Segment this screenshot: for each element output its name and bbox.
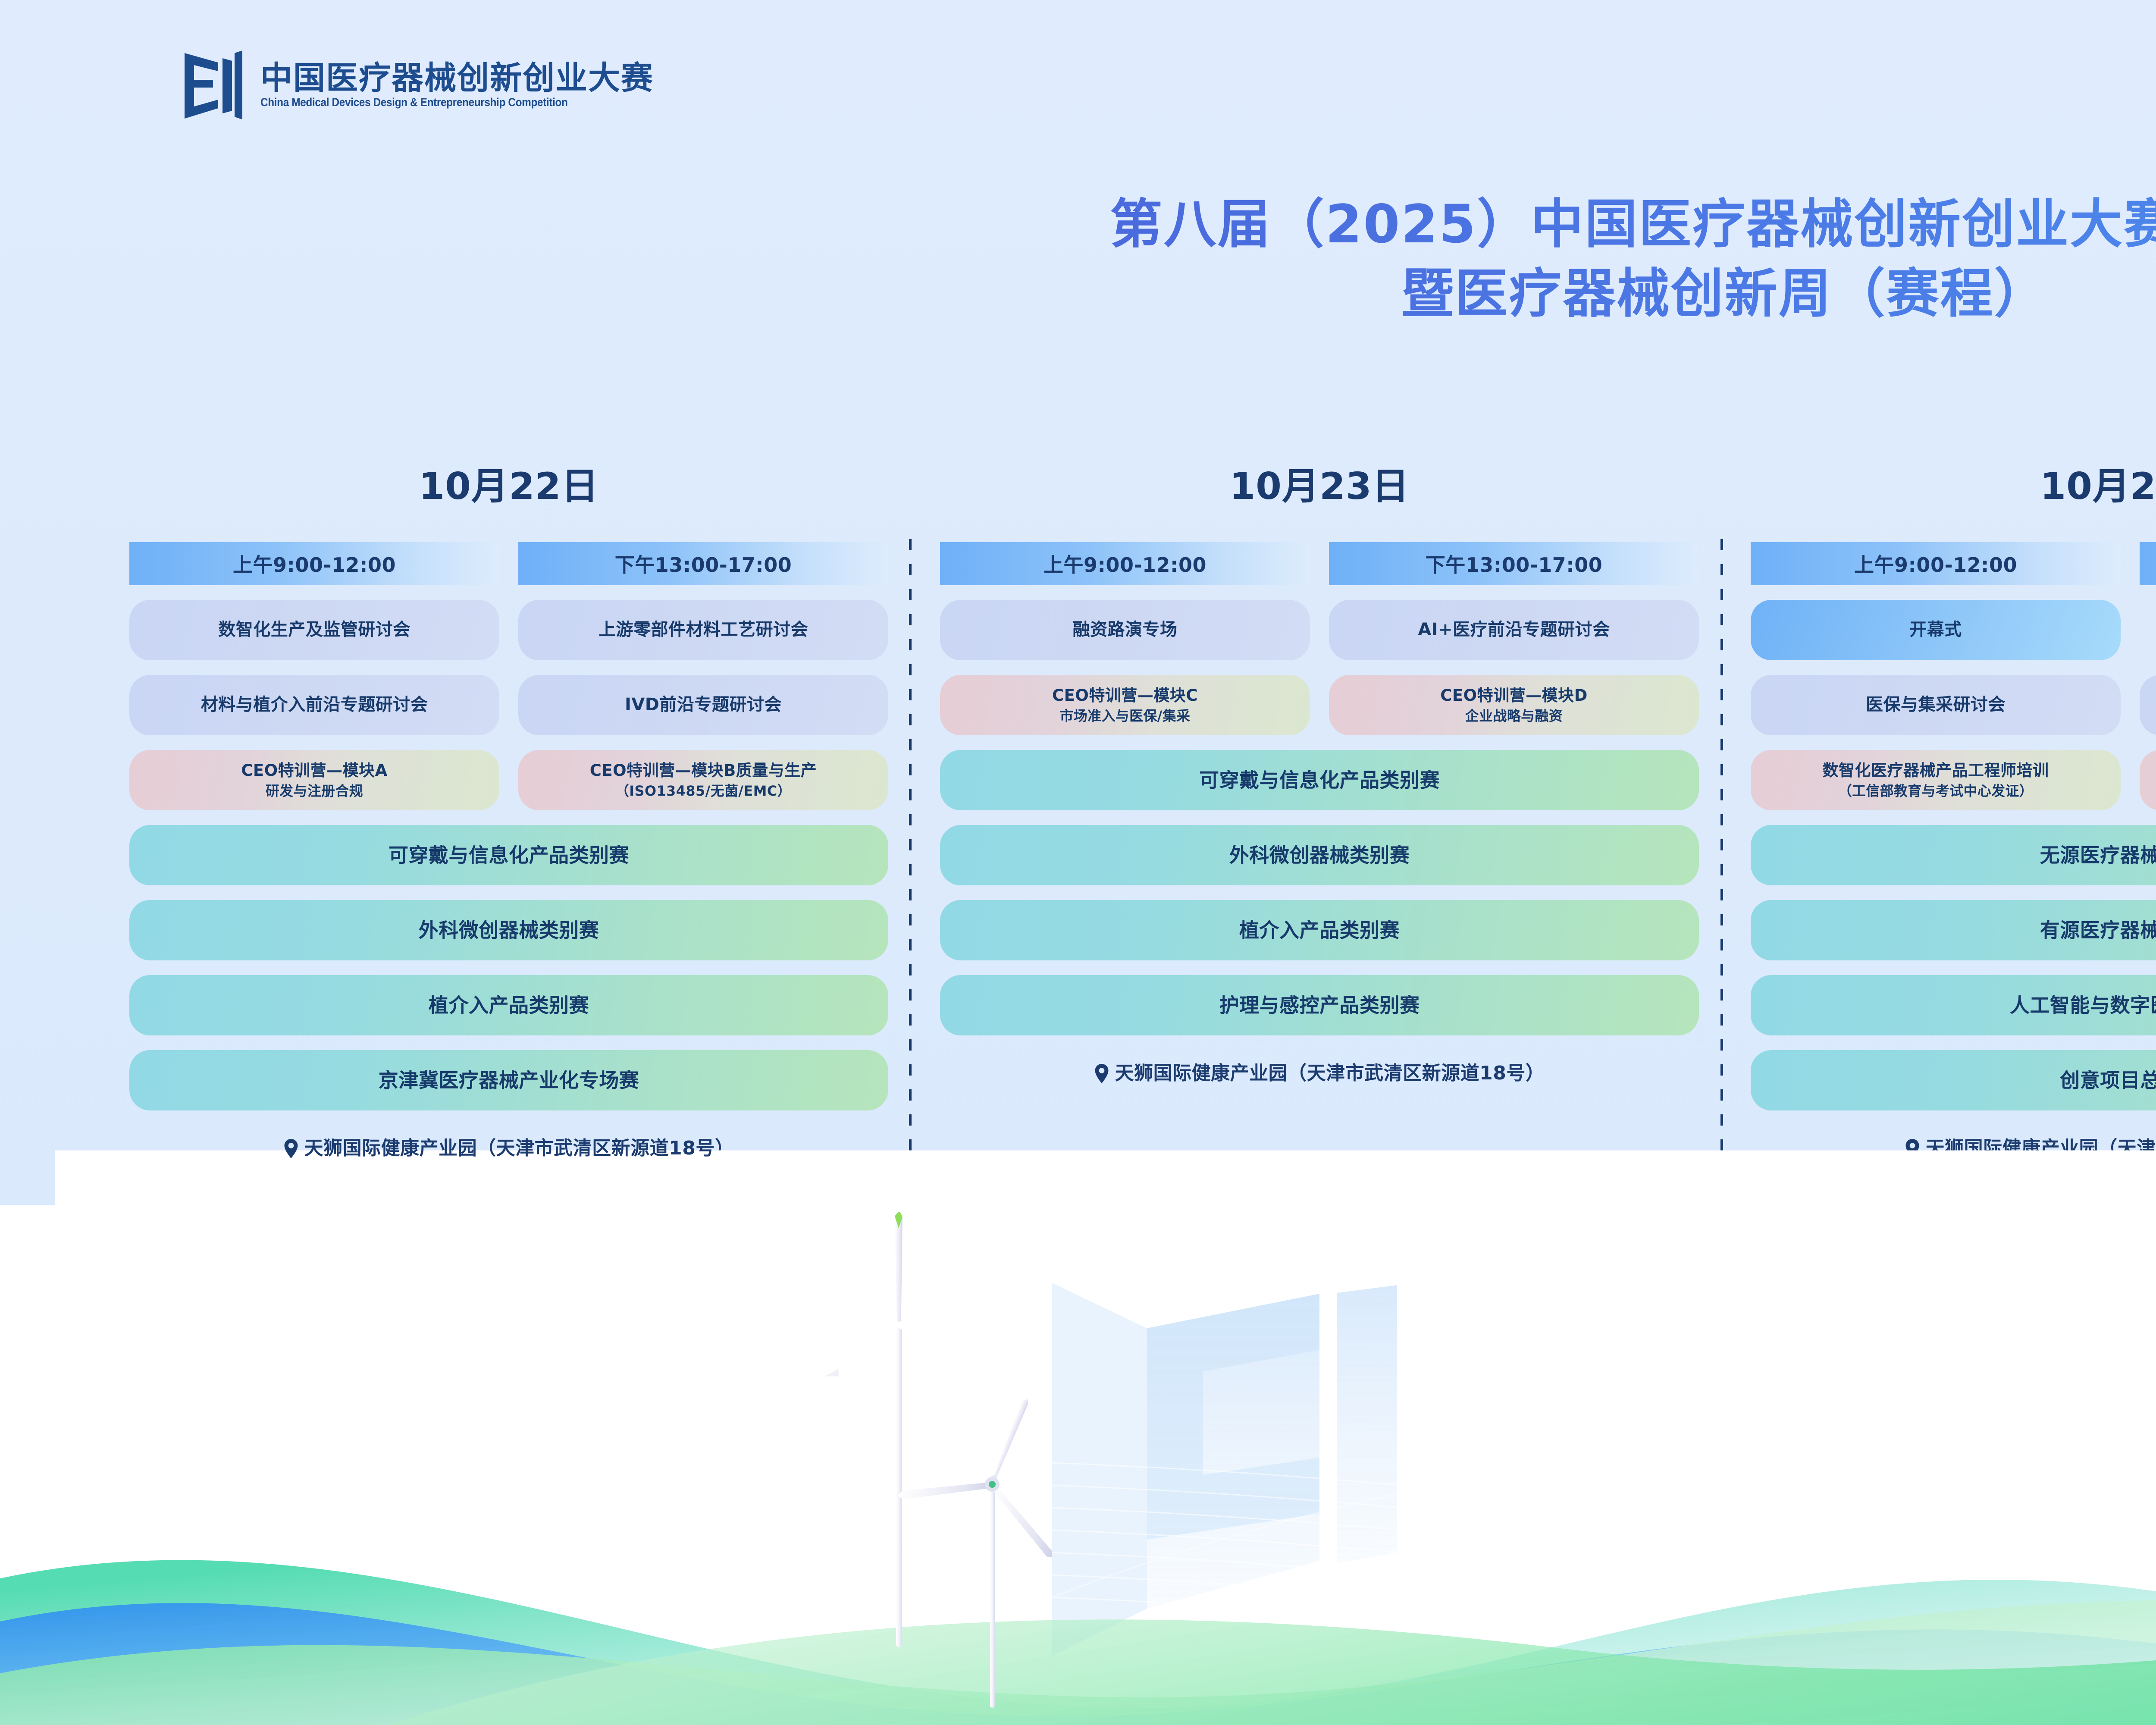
venue-text: 天狮国际健康产业园（天津市武清区新源道18号） — [304, 1135, 734, 1161]
schedule-card[interactable]: 数智化医疗器械人因工程设计工程师培训（工信部教育与考试中心发证） — [2140, 750, 2156, 810]
location-pin-icon — [1094, 1064, 1109, 1083]
afternoon-time-pill: 下午13:00-17:00 — [2140, 542, 2156, 585]
schedule-card[interactable]: 护理与感控产品类别赛 — [940, 975, 1699, 1035]
schedule-card[interactable]: 可穿戴与信息化产品类别赛 — [940, 750, 1699, 810]
card-subtitle: 市场准入与医保/集采 — [1052, 707, 1198, 725]
session-row: 开幕式 — [1751, 585, 2156, 660]
venue-line: 天狮国际健康产业园（天津市武清区新源道18号） — [1751, 1135, 2156, 1161]
card-title: 创意项目总决赛 — [2060, 1069, 2156, 1092]
venue-text: 天狮国际健康产业园（天津市武清区新源道18号） — [1115, 1060, 1545, 1086]
venue-text: 天狮国际健康产业园（天津市武清区新源道18号） — [1926, 1135, 2156, 1161]
venue-line: 天狮国际健康产业园（天津市武清区新源道18号） — [129, 1135, 888, 1161]
card-title: 护理与感控产品类别赛 — [1219, 994, 1420, 1017]
card-title: 开幕式 — [1909, 620, 1962, 640]
schedule-card[interactable]: 数智化生产及监管研讨会 — [129, 600, 499, 660]
location-pin-icon — [1905, 1139, 1920, 1158]
card-title: 材料与植介入前沿专题研讨会 — [201, 695, 428, 715]
card-title: 有源医疗器械总决赛 — [2040, 919, 2156, 942]
session-row: 融资路演专场AI+医疗前沿专题研讨会 — [940, 585, 1699, 660]
morning-time-pill: 上午9:00-12:00 — [940, 542, 1310, 585]
schedule-card[interactable]: 数智化医疗器械产品工程师培训（工信部教育与考试中心发证） — [1751, 750, 2121, 810]
day-date-heading: 10月24日 — [1751, 468, 2156, 505]
time-header-row: 上午9:00-12:00下午13:00-17:00 — [129, 542, 888, 585]
afternoon-time-pill: 下午13:00-17:00 — [1329, 542, 1699, 585]
card-title: 上游零部件材料工艺研讨会 — [599, 620, 808, 640]
afternoon-time-pill: 下午13:00-17:00 — [518, 542, 888, 585]
schedule-card[interactable]: 植介入产品类别赛 — [129, 975, 888, 1035]
schedule-card[interactable]: CEO特训营—模块C市场准入与医保/集采 — [940, 675, 1310, 735]
card-title: 人工智能与数字医疗总决赛 — [2010, 994, 2156, 1017]
schedule-card[interactable]: 融资路演专场 — [940, 600, 1310, 660]
card-title: 无源医疗器械总决赛 — [2040, 844, 2156, 867]
card-title: IVD前沿专题研讨会 — [625, 695, 782, 715]
card-subtitle: （工信部教育与考试中心发证） — [1823, 782, 2049, 800]
day-date-heading: 10月22日 — [129, 468, 888, 505]
card-title: CEO特训营—模块B质量与生产 — [590, 761, 817, 780]
schedule-card[interactable]: AI+医疗前沿专题研讨会 — [1329, 600, 1699, 660]
schedule-card[interactable]: 无源医疗器械总决赛 — [1751, 825, 2156, 885]
card-title: 可穿戴与信息化产品类别赛 — [1199, 768, 1440, 792]
schedule-card[interactable]: 材料与植介入前沿专题研讨会 — [129, 675, 499, 735]
title-line-1: 第八届（2025）中国医疗器械创新创业大赛总决赛 — [0, 190, 2156, 259]
time-header-row: 上午9:00-12:00下午13:00-17:00 — [940, 542, 1699, 585]
card-subtitle: 企业战略与融资 — [1440, 707, 1588, 725]
schedule-card[interactable]: 可穿戴与信息化产品类别赛 — [129, 825, 888, 885]
schedule-card[interactable]: CEO特训营—模块A研发与注册合规 — [129, 750, 499, 810]
card-title: 融资路演专场 — [1073, 620, 1178, 640]
logo-english-name: China Medical Devices Design & Entrepren… — [260, 97, 622, 108]
schedule-card[interactable]: 医保与集采研讨会 — [1751, 675, 2121, 735]
schedule-card[interactable]: IVD前沿专题研讨会 — [518, 675, 888, 735]
location-pin-icon — [284, 1139, 298, 1158]
day-date-heading: 10月23日 — [940, 468, 1699, 505]
card-title: 数智化生产及监管研讨会 — [218, 620, 411, 640]
schedule-card[interactable]: 外科微创器械类别赛 — [940, 825, 1699, 885]
schedule-card[interactable]: 有源医疗器械总决赛 — [1751, 900, 2156, 960]
schedule-card[interactable]: CEO特训营—模块B质量与生产（ISO13485/无菌/EMC） — [518, 750, 888, 810]
card-subtitle: （ISO13485/无菌/EMC） — [590, 782, 817, 800]
logo-chinese-name: 中国医疗器械创新创业大赛 — [260, 62, 654, 94]
schedule-card[interactable]: 上游零部件材料工艺研讨会 — [518, 600, 888, 660]
card-title: 数智化医疗器械产品工程师培训 — [1823, 761, 2049, 780]
schedule-card[interactable]: 创意项目总决赛 — [1751, 1050, 2156, 1110]
card-title: 植介入产品类别赛 — [1239, 919, 1400, 942]
session-row: 数智化生产及监管研讨会上游零部件材料工艺研讨会 — [129, 585, 888, 660]
card-title: 植介入产品类别赛 — [429, 994, 589, 1017]
card-title: AI+医疗前沿专题研讨会 — [1418, 620, 1610, 640]
day-column-3: 10月24日上午9:00-12:00下午13:00-17:00开幕式医保与集采研… — [1751, 468, 2156, 1161]
session-row: CEO特训营—模块C市场准入与医保/集采CEO特训营—模块D企业战略与融资 — [940, 660, 1699, 735]
door-mark-logo-icon — [181, 45, 246, 125]
session-row: 材料与植介入前沿专题研讨会IVD前沿专题研讨会 — [129, 660, 888, 735]
card-title: 外科微创器械类别赛 — [1229, 844, 1410, 867]
card-title: CEO特训营—模块D — [1440, 686, 1588, 705]
card-title: CEO特训营—模块A — [241, 761, 388, 780]
day-column-1: 10月22日上午9:00-12:00下午13:00-17:00数智化生产及监管研… — [129, 468, 888, 1161]
card-title: 可穿戴与信息化产品类别赛 — [389, 844, 629, 867]
schedule-card[interactable]: 外科微创器械类别赛 — [129, 900, 888, 960]
card-title: 医保与集采研讨会 — [1866, 695, 2006, 715]
time-header-row: 上午9:00-12:00下午13:00-17:00 — [1751, 542, 2156, 585]
morning-time-pill: 上午9:00-12:00 — [129, 542, 499, 585]
session-row: 数智化医疗器械产品工程师培训（工信部教育与考试中心发证）数智化医疗器械人因工程设… — [1751, 735, 2156, 810]
schedule-card[interactable]: 京津冀医疗器械产业化专场赛 — [129, 1050, 888, 1110]
card-title: CEO特训营—模块C — [1052, 686, 1198, 705]
venue-line: 天狮国际健康产业园（天津市武清区新源道18号） — [940, 1060, 1699, 1086]
card-title: 京津冀医疗器械产业化专场赛 — [379, 1069, 639, 1092]
page-title: 第八届（2025）中国医疗器械创新创业大赛总决赛 暨医疗器械创新周（赛程） — [0, 190, 2156, 329]
poster-canvas: 中国医疗器械创新创业大赛 China Medical Devices Desig… — [0, 0, 2156, 1725]
schedule-card[interactable]: 植介入产品类别赛 — [940, 900, 1699, 960]
session-row: 医保与集采研讨会临床转化研讨会 — [1751, 660, 2156, 735]
morning-time-pill: 上午9:00-12:00 — [1751, 542, 2121, 585]
schedule-card[interactable]: 临床转化研讨会 — [2140, 675, 2156, 735]
schedule-card[interactable]: 开幕式 — [1751, 600, 2121, 660]
schedule-card[interactable]: 人工智能与数字医疗总决赛 — [1751, 975, 2156, 1035]
card-title: 外科微创器械类别赛 — [419, 919, 599, 942]
card-subtitle: 研发与注册合规 — [241, 782, 388, 800]
day-column-2: 10月23日上午9:00-12:00下午13:00-17:00融资路演专场AI+… — [940, 468, 1699, 1086]
brand-logo: 中国医疗器械创新创业大赛 China Medical Devices Desig… — [181, 45, 654, 125]
session-row: CEO特训营—模块A研发与注册合规CEO特训营—模块B质量与生产（ISO1348… — [129, 735, 888, 810]
title-line-2: 暨医疗器械创新周（赛程） — [0, 259, 2156, 329]
schedule-card[interactable]: CEO特训营—模块D企业战略与融资 — [1329, 675, 1699, 735]
